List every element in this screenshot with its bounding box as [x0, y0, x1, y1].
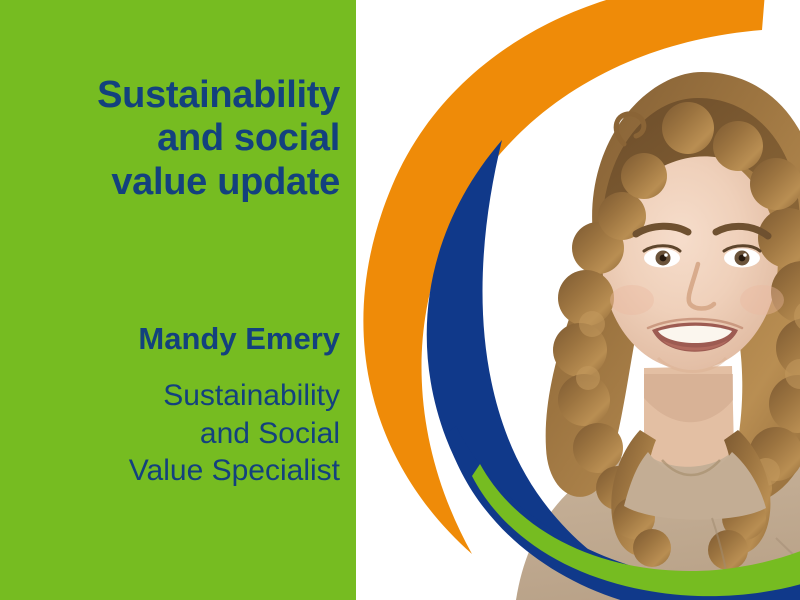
speaker-role-line-3: Value Specialist [32, 452, 340, 490]
blue-crescent-arc [427, 140, 726, 600]
slide-title-line-2: and social [32, 117, 340, 160]
brand-swoosh-arcs [356, 0, 800, 600]
speaker-name: Mandy Emery [32, 320, 340, 357]
speaker-role-line-1: Sustainability [32, 377, 340, 415]
slide-title-line-1: Sustainability [32, 74, 340, 117]
green-title-panel: Sustainability and social value update M… [0, 0, 356, 600]
slide-title-line-3: value update [32, 161, 340, 204]
presentation-slide: Sustainability and social value update M… [0, 0, 800, 600]
orange-crescent-arc [363, 0, 766, 554]
portrait-stage [356, 0, 800, 600]
slide-title: Sustainability and social value update [32, 74, 340, 204]
speaker-role-line-2: and Social [32, 415, 340, 453]
speaker-info: Mandy Emery Sustainability and Social Va… [32, 320, 340, 490]
